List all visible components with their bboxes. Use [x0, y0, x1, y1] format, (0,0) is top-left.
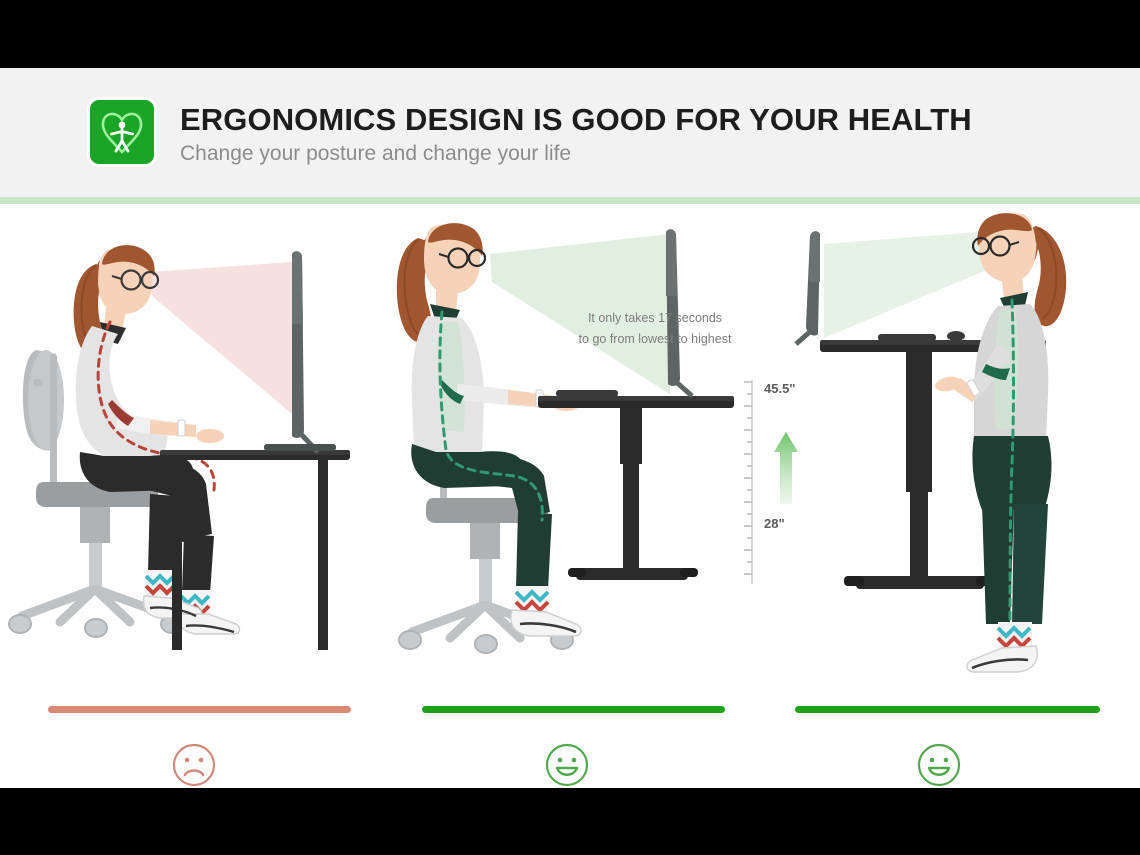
- upright-sitting-scene: [380, 204, 760, 788]
- happy-face-icon-standing: [915, 741, 963, 789]
- socks: [516, 586, 548, 614]
- shoe: [511, 610, 581, 636]
- lift-time-note-line2: to go from lowest to highest: [540, 329, 770, 350]
- content-area: ERGONOMICS DESIGN IS GOOD FOR YOUR HEALT…: [0, 68, 1140, 788]
- infographic-canvas: ERGONOMICS DESIGN IS GOOD FOR YOUR HEALT…: [0, 0, 1140, 855]
- shoe: [967, 646, 1037, 672]
- heart-person-ergonomics-icon: [90, 100, 154, 164]
- header-band: ERGONOMICS DESIGN IS GOOD FOR YOUR HEALT…: [0, 68, 1140, 197]
- standing-scene: [760, 204, 1140, 788]
- socks: [998, 622, 1032, 650]
- verdict-bar-bad: [48, 706, 351, 713]
- verdict-bar-good-sitting: [422, 706, 725, 713]
- letterbox-bottom: [0, 788, 1140, 855]
- page-subtitle: Change your posture and change your life: [180, 142, 571, 166]
- letterbox-top: [0, 0, 1140, 68]
- panel-good-standing: [760, 204, 1140, 788]
- ruler-max-height-label: 45.5": [764, 381, 795, 396]
- lift-time-note: It only takes 17 seconds to go from lowe…: [540, 308, 770, 349]
- gaze-cone: [150, 262, 292, 414]
- monitor: [796, 231, 820, 344]
- sad-face-icon: [170, 741, 218, 789]
- page-title: ERGONOMICS DESIGN IS GOOD FOR YOUR HEALT…: [180, 102, 972, 138]
- happy-face-icon-sitting: [543, 741, 591, 789]
- lift-time-note-line1: It only takes 17 seconds: [540, 308, 770, 329]
- slouched-sitting-scene: [0, 204, 390, 788]
- keyboard: [878, 334, 936, 341]
- panel-bad-sitting: [0, 204, 390, 788]
- ruler-min-height-label: 28": [764, 516, 785, 531]
- keyboard: [556, 390, 618, 397]
- header-divider: [0, 197, 1140, 204]
- panel-good-sitting: [380, 204, 760, 788]
- mouse: [947, 331, 965, 341]
- gaze-cone: [824, 230, 1006, 338]
- verdict-bar-good-standing: [795, 706, 1100, 713]
- adjustable-desk: [538, 396, 734, 580]
